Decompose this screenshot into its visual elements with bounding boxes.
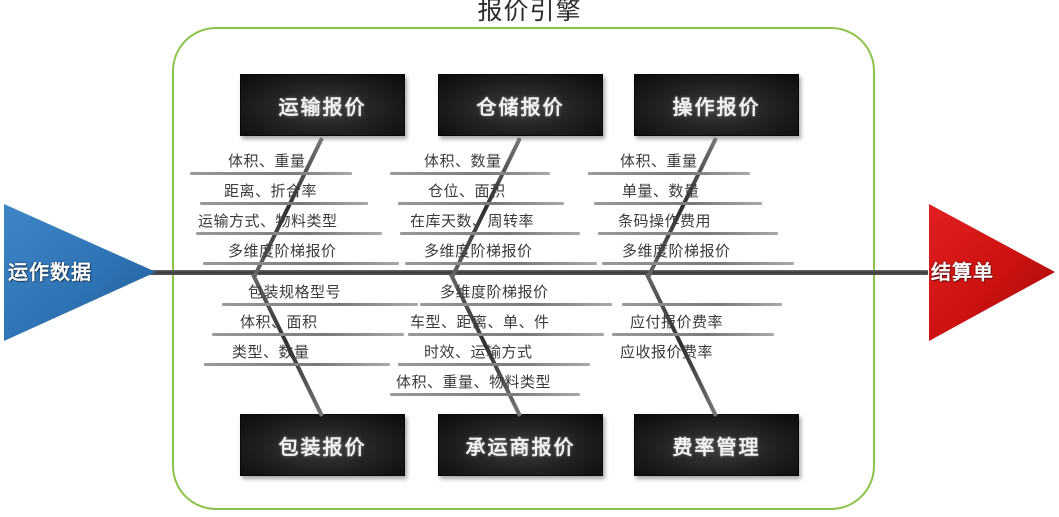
sub-item-rate-2: 应收报价费率 <box>620 341 713 362</box>
sub-item-carrier-2: 车型、距离、单、件 <box>410 311 550 332</box>
sub-rule <box>588 172 750 175</box>
category-label: 费率管理 <box>673 431 761 460</box>
output-arrow-label: 结算单 <box>931 256 994 285</box>
sub-item-operation-4: 多维度阶梯报价 <box>622 240 731 261</box>
sub-rule <box>405 262 597 265</box>
sub-rule <box>398 202 564 205</box>
input-arrow: 运作数据 <box>0 200 160 345</box>
category-box-carrier-quote[interactable]: 承运商报价 <box>438 414 603 476</box>
sub-rule <box>390 172 550 175</box>
sub-rule <box>408 333 604 336</box>
sub-rule <box>622 303 782 306</box>
category-label: 运输报价 <box>279 91 367 120</box>
category-label: 包装报价 <box>279 431 367 460</box>
sub-item-operation-3: 条码操作费用 <box>618 210 711 231</box>
sub-rule <box>390 393 580 396</box>
sub-item-transport-1: 体积、重量 <box>228 150 306 171</box>
sub-item-warehouse-3: 在库天数、周转率 <box>410 210 534 231</box>
sub-item-operation-1: 体积、重量 <box>620 150 698 171</box>
sub-rule <box>398 363 590 366</box>
sub-item-rate-1: 应付报价费率 <box>630 311 723 332</box>
sub-item-carrier-4: 体积、重量、物料类型 <box>396 371 551 392</box>
category-box-packaging-quote[interactable]: 包装报价 <box>240 414 405 476</box>
input-arrow-label: 运作数据 <box>8 256 92 285</box>
sub-rule <box>190 172 352 175</box>
sub-rule <box>196 232 382 235</box>
sub-rule <box>400 232 580 235</box>
category-label: 承运商报价 <box>466 431 576 460</box>
sub-rule <box>212 333 404 336</box>
category-box-operation-quote[interactable]: 操作报价 <box>634 74 799 136</box>
sub-item-packaging-1: 包装规格型号 <box>248 281 341 302</box>
sub-item-carrier-1: 多维度阶梯报价 <box>440 281 549 302</box>
sub-item-warehouse-1: 体积、数量 <box>424 150 502 171</box>
category-box-warehouse-quote[interactable]: 仓储报价 <box>438 74 603 136</box>
sub-item-warehouse-4: 多维度阶梯报价 <box>424 240 533 261</box>
sub-item-packaging-2: 体积、面积 <box>240 311 318 332</box>
category-label: 仓储报价 <box>477 91 565 120</box>
sub-rule <box>204 363 390 366</box>
sub-item-transport-2: 距离、折合率 <box>224 180 317 201</box>
sub-item-carrier-3: 时效、运输方式 <box>424 341 533 362</box>
sub-rule <box>200 202 368 205</box>
output-arrow: 结算单 <box>925 200 1059 345</box>
fishbone-diagram: 报价引擎 运作数据 <box>0 0 1059 517</box>
sub-rule <box>420 303 612 306</box>
sub-item-warehouse-2: 仓位、面积 <box>428 180 506 201</box>
sub-rule <box>222 303 418 306</box>
page-title: 报价引擎 <box>0 0 1059 28</box>
fishbone-spine <box>128 270 928 275</box>
sub-item-transport-4: 多维度阶梯报价 <box>228 240 337 261</box>
sub-rule <box>602 262 794 265</box>
sub-item-packaging-3: 类型、数量 <box>232 341 310 362</box>
sub-rule <box>203 262 399 265</box>
sub-rule <box>598 232 778 235</box>
sub-rule <box>594 202 762 205</box>
category-label: 操作报价 <box>673 91 761 120</box>
sub-item-operation-2: 单量、数量 <box>622 180 700 201</box>
category-box-rate-management[interactable]: 费率管理 <box>634 414 799 476</box>
sub-item-transport-3: 运输方式、物料类型 <box>198 210 338 231</box>
sub-rule <box>612 333 774 336</box>
category-box-transport-quote[interactable]: 运输报价 <box>240 74 405 136</box>
